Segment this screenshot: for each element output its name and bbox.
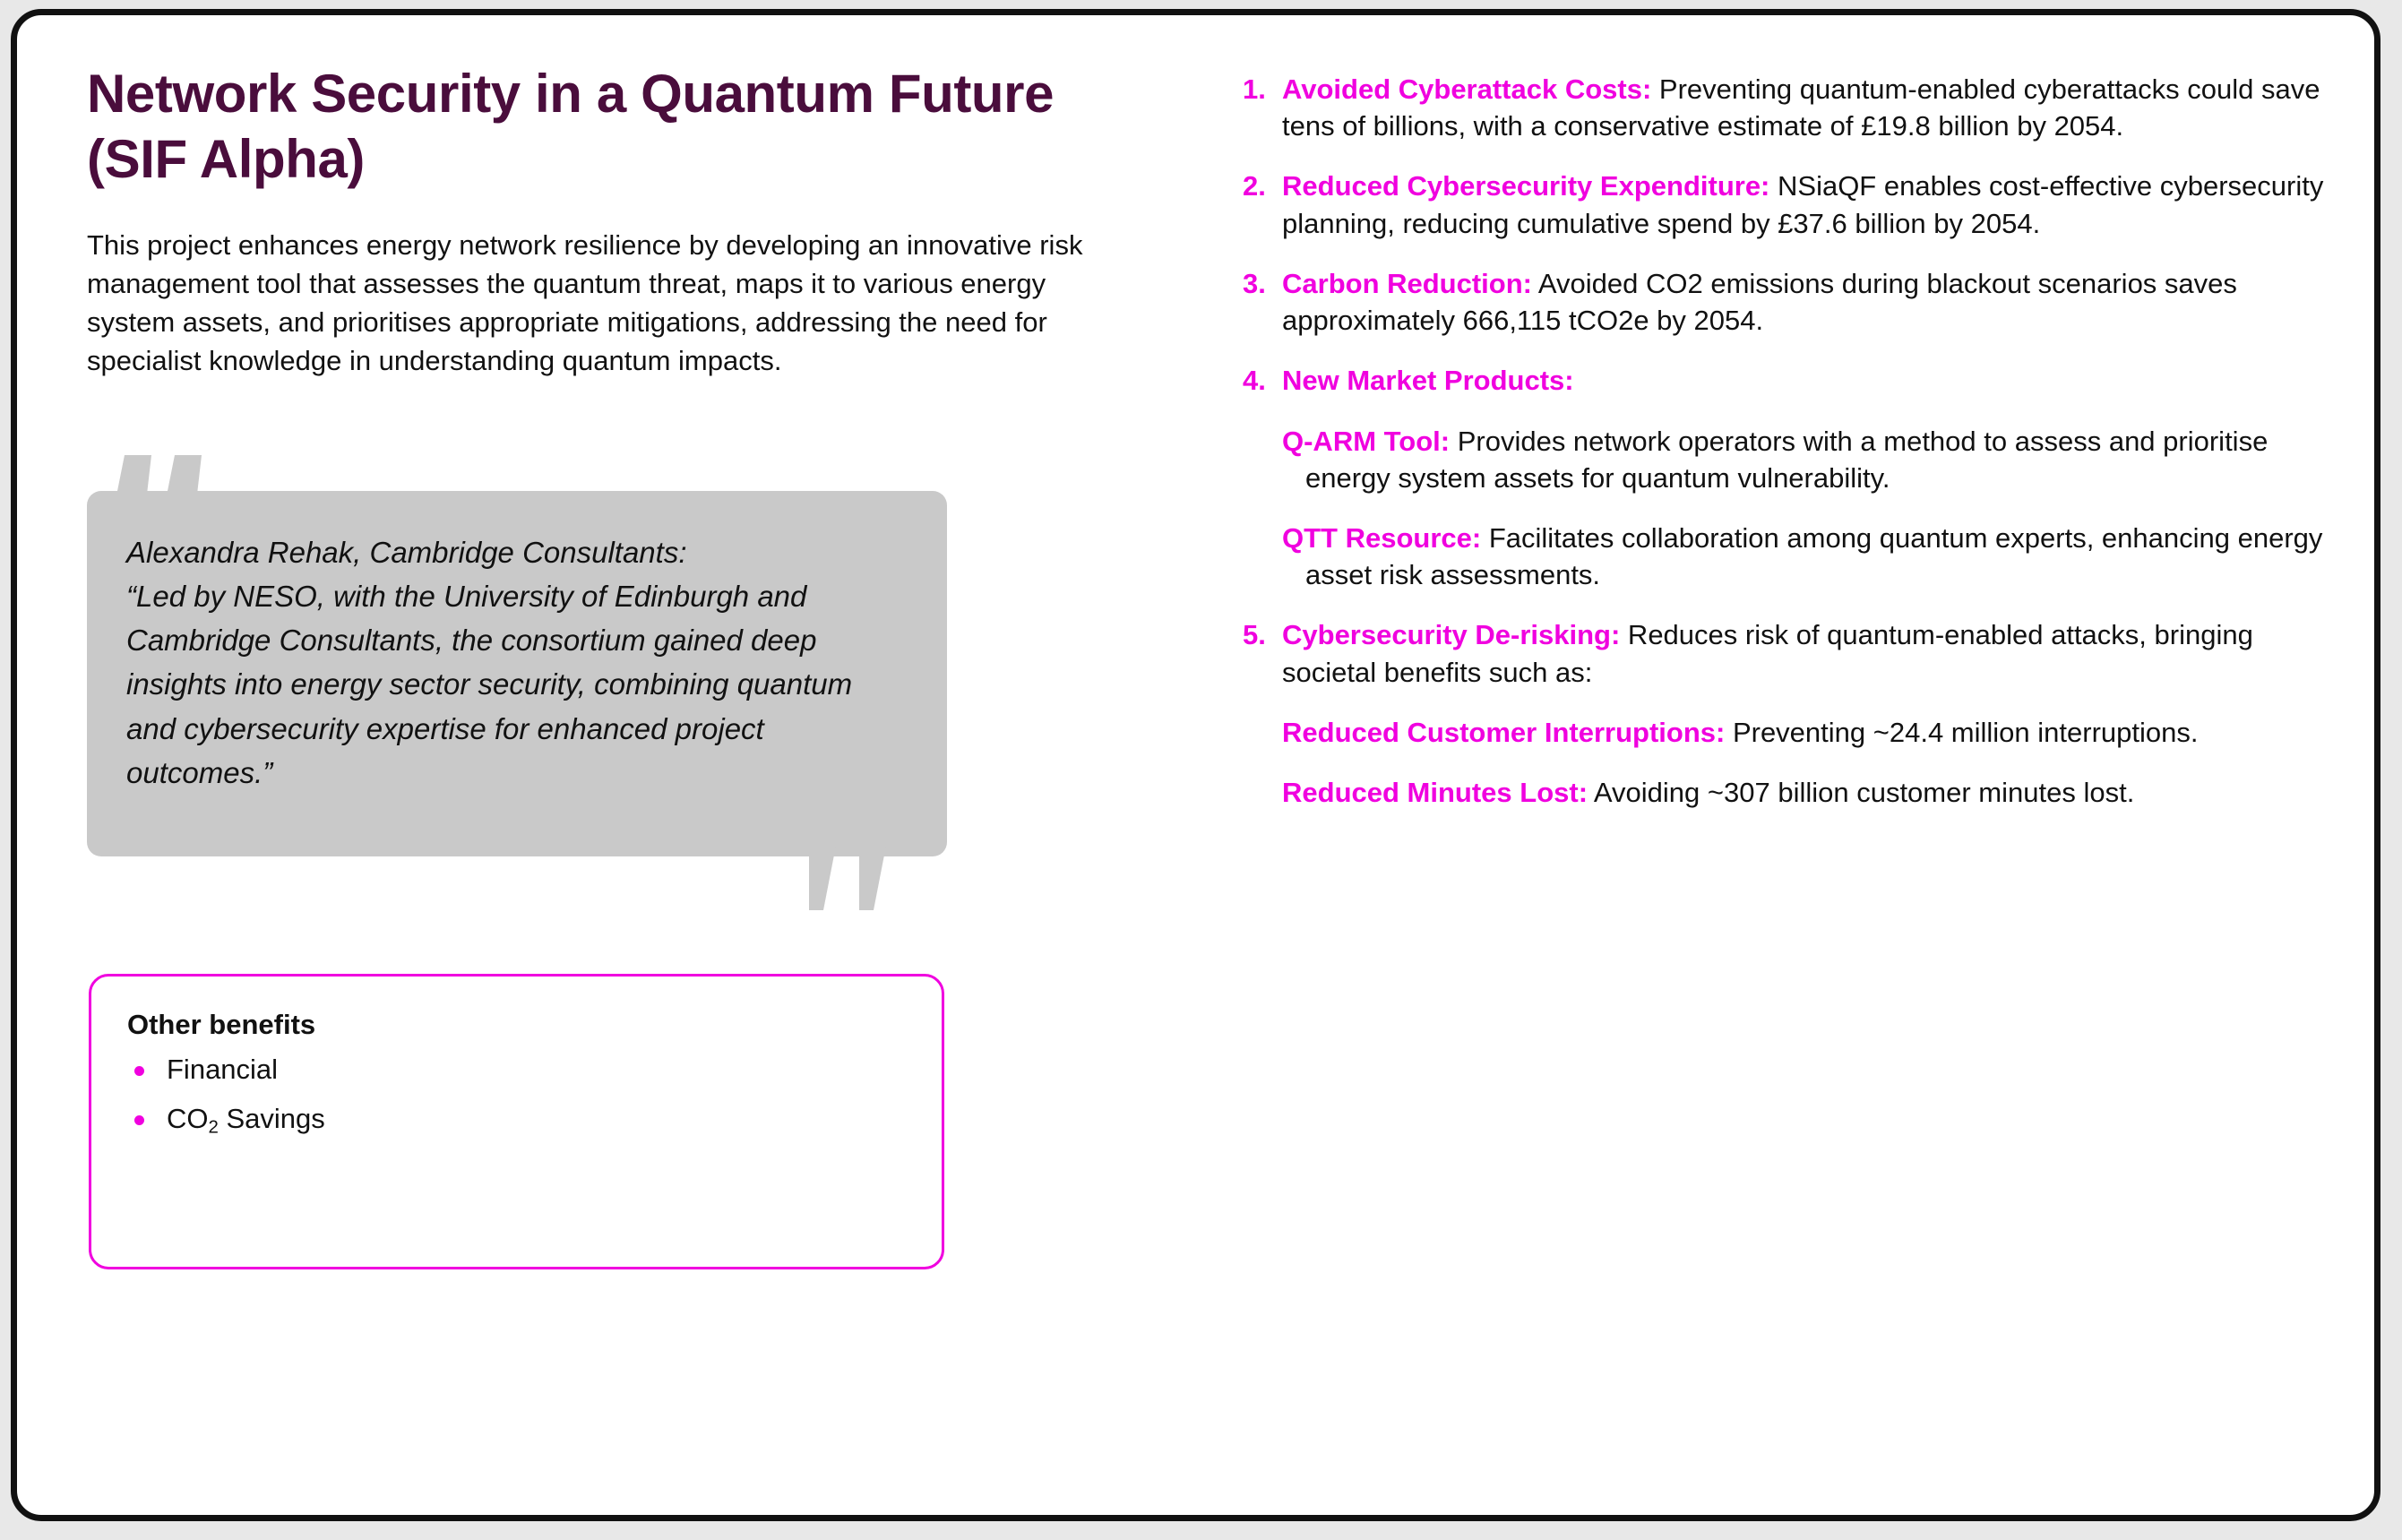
left-column: Network Security in a Quantum Future (SI… xyxy=(87,62,1144,381)
benefit-item-body: Reduced Cybersecurity Expenditure: NSiaQ… xyxy=(1282,168,2327,241)
benefit-item-body: Carbon Reduction: Avoided CO2 emissions … xyxy=(1282,265,2327,339)
sub-item-qtt-resource: QTT Resource: Facilitates collaboration … xyxy=(1282,520,2327,593)
bullet-dot-icon xyxy=(134,1115,144,1125)
benefit-item-lead: New Market Products: xyxy=(1282,365,1574,396)
benefit-item-1: 1. Avoided Cyberattack Costs: Preventing… xyxy=(1243,71,2327,144)
quote-block: Alexandra Rehak, Cambridge Consultants: … xyxy=(87,491,947,856)
benefit-item-number: 1. xyxy=(1243,71,1282,144)
benefit-item-body: Avoided Cyberattack Costs: Preventing qu… xyxy=(1282,71,2327,144)
sub-item-text: Avoiding ~307 billion customer minutes l… xyxy=(1588,777,2134,808)
benefit-item-number: 3. xyxy=(1243,265,1282,339)
list-item: Financial xyxy=(127,1055,906,1083)
page-title: Network Security in a Quantum Future (SI… xyxy=(87,62,1099,192)
benefit-item-number: 5. xyxy=(1243,616,1282,690)
benefit-item-3: 3. Carbon Reduction: Avoided CO2 emissio… xyxy=(1243,265,2327,339)
slide-canvas: Network Security in a Quantum Future (SI… xyxy=(11,9,2380,1521)
other-benefits-box: Other benefits Financial CO2 Savings xyxy=(89,974,944,1269)
sub-item-lead: Reduced Minutes Lost: xyxy=(1282,777,1588,808)
right-column: 1. Avoided Cyberattack Costs: Preventing… xyxy=(1243,71,2327,834)
sub-item-reduced-minutes-lost: Reduced Minutes Lost: Avoiding ~307 bill… xyxy=(1282,774,2327,811)
quote-box: Alexandra Rehak, Cambridge Consultants: … xyxy=(87,491,947,856)
sub-item-text: Provides network operators with a method… xyxy=(1305,426,2268,494)
benefit-item-lead: Cybersecurity De-risking: xyxy=(1282,619,1620,650)
sub-item-lead: QTT Resource: xyxy=(1282,522,1481,554)
benefit-item-lead: Carbon Reduction: xyxy=(1282,268,1532,299)
other-benefits-list: Financial CO2 Savings xyxy=(127,1055,906,1137)
benefit-label: CO xyxy=(167,1103,209,1134)
bullet-dot-icon xyxy=(134,1066,144,1076)
benefit-item-4: 4. New Market Products: xyxy=(1243,362,2327,399)
benefit-item-5: 5. Cybersecurity De-risking: Reduces ris… xyxy=(1243,616,2327,690)
sub-item-reduced-customer-interruptions: Reduced Customer Interruptions: Preventi… xyxy=(1282,714,2327,751)
sub-item-text: Preventing ~24.4 million interruptions. xyxy=(1725,717,2198,748)
quote-attribution: Alexandra Rehak, Cambridge Consultants: xyxy=(126,530,897,574)
benefit-item-number: 4. xyxy=(1243,362,1282,399)
benefit-item-number: 2. xyxy=(1243,168,1282,241)
list-item: CO2 Savings xyxy=(127,1105,906,1137)
intro-paragraph: This project enhances energy network res… xyxy=(87,226,1126,380)
benefit-item-body: New Market Products: xyxy=(1282,362,2327,399)
sub-item-q-arm-tool: Q-ARM Tool: Provides network operators w… xyxy=(1282,423,2327,496)
benefit-item-2: 2. Reduced Cybersecurity Expenditure: NS… xyxy=(1243,168,2327,241)
sub-item-lead: Reduced Customer Interruptions: xyxy=(1282,717,1725,748)
benefit-item-body: Cybersecurity De-risking: Reduces risk o… xyxy=(1282,616,2327,690)
quote-close-icon xyxy=(809,846,909,910)
benefit-label-tail: Savings xyxy=(219,1103,325,1134)
sub-item-lead: Q-ARM Tool: xyxy=(1282,426,1450,457)
quote-text: “Led by NESO, with the University of Edi… xyxy=(126,574,897,795)
benefit-item-lead: Reduced Cybersecurity Expenditure: xyxy=(1282,170,1769,202)
other-benefits-title: Other benefits xyxy=(127,1009,906,1041)
benefit-label-subscript: 2 xyxy=(209,1117,219,1138)
benefit-label: Financial xyxy=(167,1054,278,1085)
benefit-item-lead: Avoided Cyberattack Costs: xyxy=(1282,73,1651,105)
